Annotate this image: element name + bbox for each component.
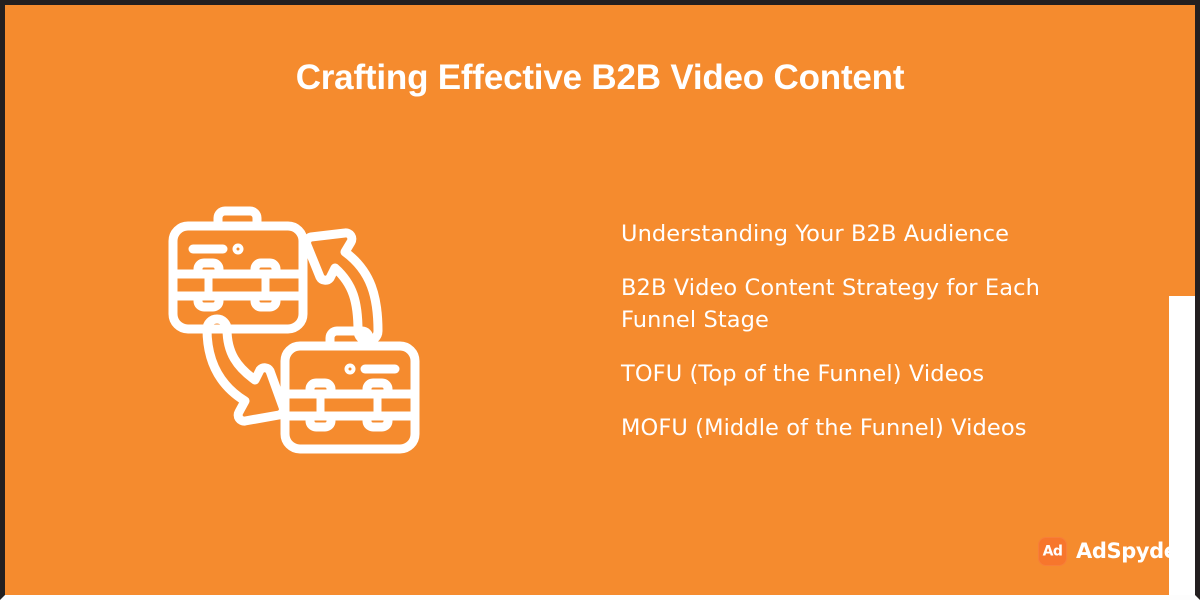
list-item: MOFU (Middle of the Funnel) Videos — [621, 413, 1091, 445]
arrow-down-right — [207, 319, 283, 421]
briefcase-bottom-right — [285, 331, 415, 449]
two-briefcases-exchange-icon — [165, 201, 425, 455]
page-title: Crafting Effective B2B Video Content — [5, 57, 1195, 99]
adspyder-wordmark: AdSpyder — [1076, 541, 1188, 562]
list-item: TOFU (Top of the Funnel) Videos — [621, 359, 1091, 391]
adspyder-badge-icon: Ad — [1038, 537, 1067, 566]
arrow-up-left — [307, 233, 378, 341]
briefcase-top-left — [173, 211, 303, 329]
scrollbar-track[interactable] — [1165, 148, 1195, 507]
slide-canvas: Crafting Effective B2B Video Content — [0, 0, 1200, 600]
adspyder-logo[interactable]: Ad AdSpyder — [1038, 537, 1188, 566]
list-item: B2B Video Content Strategy for Each Funn… — [621, 273, 1091, 337]
topic-list: Understanding Your B2B Audience B2B Vide… — [621, 219, 1091, 445]
adspyder-badge-label: Ad — [1043, 544, 1063, 558]
list-item: Understanding Your B2B Audience — [621, 219, 1091, 251]
